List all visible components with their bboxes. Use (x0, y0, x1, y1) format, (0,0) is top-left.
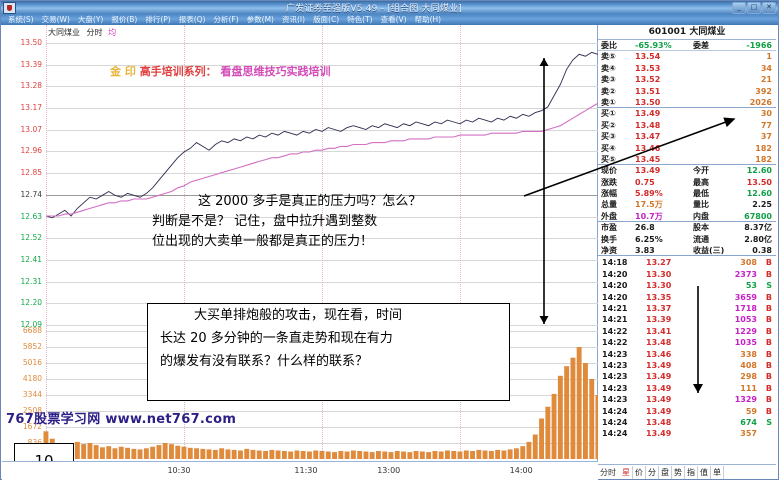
tick-direction-flag: B (760, 337, 776, 348)
ask-label: 卖① (598, 97, 635, 107)
bid-label: 买④ (598, 143, 635, 154)
tick-direction-flag: B (760, 303, 776, 314)
bid-volume: 182 (693, 143, 776, 154)
price-tick-label: 13.28 (2, 82, 42, 90)
chart-ma-label: 均 (108, 28, 116, 37)
price-tick-label: 12.74 (2, 191, 42, 199)
volume-bar (213, 450, 218, 459)
tick-volume: 408 (700, 360, 760, 371)
ask-row[interactable]: 卖①13.502026 (598, 97, 776, 108)
stat-label-right: 今开 (693, 165, 733, 176)
tick-price: 13.46 (646, 349, 700, 360)
volume-bar (269, 450, 274, 459)
tick-price: 13.30 (646, 280, 700, 291)
menu-item-ranking[interactable]: 排行(P) (141, 14, 174, 25)
bid-book[interactable]: 买①13.4930买②13.4877买③13.4737买④13.46182买⑤1… (598, 108, 776, 165)
ask-row[interactable]: 卖④13.5334 (598, 63, 776, 74)
tick-trade-list[interactable]: 14:1813.27308B14:2013.302373B14:2013.305… (598, 257, 776, 439)
volume-bar (295, 451, 300, 460)
volume-bar (276, 451, 281, 460)
menu-item-system[interactable]: 系统(S) (4, 14, 38, 25)
ask-price: 13.52 (635, 74, 693, 85)
volume-bar (433, 451, 438, 459)
tick-direction-flag: S (760, 280, 776, 291)
stat-label-right: 最高 (693, 177, 733, 188)
time-tick-label: 14:00 (510, 466, 533, 475)
stat-label-left: 净资 (598, 245, 635, 255)
bid-row[interactable]: 买②13.4877 (598, 120, 776, 131)
tick-volume: 357 (700, 428, 760, 439)
time-tick-label: 11:30 (294, 466, 317, 475)
ask-row[interactable]: 卖②13.51392 (598, 86, 776, 97)
tick-volume: 53 (700, 280, 760, 291)
tick-direction-flag: B (760, 371, 776, 382)
volume-bar (445, 451, 450, 460)
close-button[interactable]: ✕ (762, 2, 776, 14)
tick-price: 13.39 (646, 314, 700, 325)
price-tick-label: 13.50 (2, 39, 42, 47)
quote-ratio-row: 委比 -65.93% 委差 -1966 (598, 40, 776, 51)
tick-time: 14:23 (598, 349, 646, 360)
tick-row[interactable]: 14:2213.411229B (598, 326, 776, 337)
menu-item-analysis[interactable]: 分析(F) (209, 14, 242, 25)
site-watermark: 767股票学习网 www.net767.com (6, 408, 236, 427)
workspace: 13.5013.3913.2813.1713.0712.9612.8512.74… (2, 25, 777, 479)
volume-bar (426, 452, 431, 459)
volume-bar (552, 394, 557, 459)
volume-bar (407, 452, 412, 459)
stat-value-right: 8.37亿 (733, 222, 776, 233)
volume-tick-label: 6688 (2, 327, 42, 335)
ask-book[interactable]: 卖⑤13.541卖④13.5334卖③13.5221卖②13.51392卖①13… (598, 51, 776, 108)
chart-header: 大同煤业 分时 均 (48, 27, 116, 38)
volume-bar (113, 448, 118, 459)
stat-label-left: 总量 (598, 199, 635, 210)
tick-direction-flag: B (760, 269, 776, 280)
stat-value-left: 17.5万 (635, 199, 693, 210)
stat-value-right: 2.80亿 (733, 234, 776, 245)
tick-direction-flag: B (760, 326, 776, 337)
tick-price: 13.27 (646, 257, 700, 268)
volume-bar (238, 451, 243, 460)
banner-mark-yin: 印 (125, 65, 136, 78)
tick-row[interactable]: 14:2413.4959B (598, 406, 776, 417)
tick-row[interactable]: 14:2113.371718B (598, 303, 776, 314)
ask-price: 13.54 (635, 51, 693, 62)
quote-tab-8[interactable]: 单 (711, 466, 724, 479)
stat-value-left: 26.8 (635, 222, 693, 233)
volume-bar (382, 452, 387, 460)
menu-item-help[interactable]: 帮助(H) (411, 14, 446, 25)
stat-label-right: 流通 (693, 234, 733, 245)
volume-bar (163, 443, 168, 459)
stat-value-left: 3.83 (635, 245, 693, 255)
tick-direction-flag: B (760, 383, 776, 394)
minimize-button[interactable]: _ (732, 2, 746, 14)
price-tick-label: 12.41 (2, 256, 42, 264)
annotation-pressure-line-1: 这 2000 多手是真正的压力吗？怎么？ (152, 192, 537, 212)
volume-bar (589, 379, 594, 459)
tick-time: 14:22 (598, 326, 646, 337)
volume-bar (88, 443, 93, 459)
ask-label: 卖③ (598, 74, 635, 85)
tick-row[interactable]: 14:2313.491329B (598, 394, 776, 405)
banner-mark-jin: 金 (110, 65, 121, 78)
volume-bar (257, 451, 262, 460)
volume-bar (75, 442, 80, 459)
price-tick-label: 12.20 (2, 299, 42, 307)
stat-value-right: 0.38 (733, 245, 776, 255)
annotation-attack: 大买单排炮般的攻击，现在看，时间 长达 20 多分钟的一条直走势和现在有力 的爆… (147, 303, 510, 401)
tick-volume: 338 (700, 349, 760, 360)
tick-price: 13.49 (646, 406, 700, 417)
stat-label-right: 最低 (693, 188, 733, 199)
tick-direction-flag (760, 428, 776, 439)
annotation-attack-line-1: 大买单排炮般的攻击，现在看，时间 (148, 304, 509, 327)
volume-bar (571, 358, 576, 459)
banner-series-label: 高手培训系列： (140, 65, 217, 78)
menu-item-report[interactable]: 报表(Q) (175, 14, 210, 25)
volume-bar (351, 451, 356, 460)
volume-bar (464, 451, 469, 460)
volume-bar (345, 452, 350, 460)
volume-bar (527, 442, 532, 459)
maximize-button[interactable]: □ (747, 2, 761, 14)
volume-bar (401, 452, 406, 460)
chart-mode-label: 分时 (87, 28, 103, 37)
window-title: 广发证券至强版V5.49 - [组合图 大同煤业] (16, 1, 732, 14)
volume-bar (508, 449, 513, 459)
volume-bar (313, 451, 318, 460)
tick-time: 14:23 (598, 360, 646, 371)
volume-bar (188, 448, 193, 459)
tick-price: 13.48 (646, 417, 700, 428)
ask-volume: 392 (693, 86, 776, 97)
volume-bar (326, 452, 331, 460)
quote-tab-2[interactable]: 价 (633, 466, 646, 479)
volume-bar (232, 450, 237, 459)
stat-row: 现价13.49今开12.60 (598, 165, 776, 176)
volume-bar (307, 452, 312, 460)
tick-time: 14:24 (598, 428, 646, 439)
tick-time: 14:23 (598, 383, 646, 394)
ask-label: 卖⑤ (598, 51, 635, 62)
bid-row[interactable]: 买①13.4930 (598, 108, 776, 119)
tick-row[interactable]: 14:2013.3053S (598, 280, 776, 291)
bid-label: 买② (598, 120, 635, 131)
volume-bar (81, 444, 86, 459)
quote-tab-1[interactable]: 星 (620, 466, 633, 479)
menu-item-view[interactable]: 查看(V) (377, 14, 411, 25)
app-window: 广发证券至强版V5.49 - [组合图 大同煤业] _ □ ✕ 系统(S) 交易… (0, 0, 779, 480)
ask-price: 13.51 (635, 86, 693, 97)
tick-volume: 59 (700, 406, 760, 417)
volume-tick-label: 5016 (2, 359, 42, 367)
tick-volume: 298 (700, 371, 760, 382)
volume-bar (533, 435, 538, 460)
volume-bar (251, 450, 256, 459)
diff-value: -1966 (733, 40, 776, 50)
tick-direction-flag: B (760, 394, 776, 405)
tick-row[interactable]: 14:2113.391053B (598, 314, 776, 325)
volume-bar (219, 448, 224, 459)
tick-volume: 1035 (700, 337, 760, 348)
stat-value-left: 13.49 (635, 165, 693, 176)
stat-label-left: 换手 (598, 234, 635, 245)
tick-volume: 308 (700, 257, 760, 268)
ask-volume: 2026 (693, 97, 776, 107)
menu-item-market[interactable]: 大盘(Y) (74, 14, 107, 25)
stat-label-right: 内盘 (693, 211, 733, 221)
tick-time: 14:23 (598, 371, 646, 382)
annotation-attack-line-2: 长达 20 多分钟的一条直走势和现在有力 (148, 327, 509, 350)
ask-volume: 21 (693, 74, 776, 85)
tick-time: 14:21 (598, 303, 646, 314)
volume-bar (395, 451, 400, 459)
training-banner: 金 印 高手培训系列： 看盘思维技巧实践培训 (110, 63, 331, 79)
volume-tick-label: 3344 (2, 391, 42, 399)
tick-direction-flag: B (760, 406, 776, 417)
window-controls: _ □ ✕ (732, 2, 776, 14)
tick-row[interactable]: 14:2013.353659B (598, 292, 776, 303)
volume-bar (514, 448, 519, 459)
volume-bar (357, 451, 362, 459)
quote-name: 大同煤业 (689, 27, 725, 37)
bid-price: 13.48 (635, 120, 693, 131)
volume-bar (338, 451, 343, 459)
volume-bar (483, 451, 488, 460)
menu-item-params[interactable]: 参数(M) (243, 14, 278, 25)
stat-label-left: 涨跌 (598, 177, 635, 188)
ask-row[interactable]: 卖③13.5221 (598, 74, 776, 85)
tick-direction-flag: S (760, 417, 776, 428)
tick-row[interactable]: 14:2413.49357 (598, 428, 776, 439)
bid-volume: 37 (693, 131, 776, 142)
tick-row[interactable]: 14:2213.481035B (598, 337, 776, 348)
volume-bar (389, 452, 394, 459)
stat-value-right: 12.60 (733, 165, 776, 176)
stat-label-right: 量比 (693, 199, 733, 210)
volume-bar (439, 452, 444, 460)
volume-bar (150, 447, 155, 459)
tick-time: 14:18 (598, 257, 646, 268)
volume-bar (263, 451, 268, 459)
intraday-chart-panel[interactable]: 13.5013.3913.2813.1713.0712.9612.8512.74… (2, 25, 598, 479)
time-tick-label: 13:00 (377, 466, 400, 475)
volume-bar (138, 449, 143, 459)
bid-price: 13.45 (635, 154, 693, 164)
volume-bar (244, 449, 249, 459)
quote-tab-bar[interactable]: 分时星价分盘势指值单 (598, 464, 776, 479)
volume-bar (370, 452, 375, 459)
volume-bar (144, 448, 149, 459)
stat-label-left: 涨幅 (598, 188, 635, 199)
tick-price: 13.48 (646, 337, 700, 348)
ratio-value: -65.93% (635, 40, 693, 50)
volume-bar (564, 366, 569, 459)
tick-volume: 674 (700, 417, 760, 428)
volume-bar (577, 347, 582, 459)
volume-bar (175, 446, 180, 459)
bid-row[interactable]: 买③13.4737 (598, 131, 776, 142)
volume-bar (332, 452, 337, 459)
volume-bar (489, 451, 494, 459)
stat-row: 市盈26.8股本8.37亿 (598, 222, 776, 233)
volume-bar (194, 448, 199, 459)
tick-time: 14:24 (598, 406, 646, 417)
quote-tab-0[interactable]: 分时 (598, 466, 620, 479)
stat-row: 涨跌0.75最高13.50 (598, 177, 776, 188)
ask-price: 13.53 (635, 63, 693, 74)
tick-price: 13.30 (646, 269, 700, 280)
tick-time: 14:24 (598, 417, 646, 428)
bid-volume: 182 (693, 154, 776, 164)
quote-tab-4[interactable]: 盘 (659, 466, 672, 479)
volume-bar (539, 419, 544, 460)
bid-row[interactable]: 买⑤13.45182 (598, 154, 776, 165)
quote-tab-5[interactable]: 势 (672, 466, 685, 479)
stat-label-right: 股本 (693, 222, 733, 233)
annotation-pressure: 这 2000 多手是真正的压力吗？怎么？ 判断是不是？ 记住，盘中拉升遇到整数 … (152, 192, 537, 254)
menu-bar: 系统(S) 交易(W) 大盘(Y) 报价(B) 排行(P) 报表(Q) 分析(F… (1, 14, 778, 25)
app-icon (3, 2, 16, 14)
tick-volume: 1229 (700, 326, 760, 337)
annotation-pressure-line-2: 判断是不是？ 记住，盘中拉升遇到整数 (152, 212, 537, 232)
ask-volume: 34 (693, 63, 776, 74)
tick-price: 13.49 (646, 394, 700, 405)
volume-bar (451, 451, 456, 459)
stat-row: 换手6.25%流通2.80亿 (598, 234, 776, 245)
tick-direction-flag: B (760, 360, 776, 371)
menu-item-trade[interactable]: 交易(W) (38, 14, 74, 25)
tick-row[interactable]: 14:2313.49111B (598, 383, 776, 394)
tick-time: 14:23 (598, 394, 646, 405)
volume-bar (200, 449, 205, 459)
tick-price: 13.41 (646, 326, 700, 337)
tick-direction-flag: B (760, 314, 776, 325)
ask-label: 卖② (598, 86, 635, 97)
menu-item-layout[interactable]: 版面(C) (309, 14, 343, 25)
tick-direction-flag: B (760, 349, 776, 360)
chart-stock-name: 大同煤业 (48, 28, 80, 37)
tick-row[interactable]: 14:2313.46338B (598, 349, 776, 360)
volume-bar (320, 451, 325, 459)
price-tick-label: 13.07 (2, 126, 42, 134)
tick-direction-flag: B (760, 292, 776, 303)
bid-label: 买① (598, 108, 635, 119)
volume-bar (414, 451, 419, 459)
stat-value-left: 10.7万 (635, 211, 693, 221)
volume-bar (301, 451, 306, 459)
quote-statistics: 现价13.49今开12.60涨跌0.75最高13.50涨幅5.89%最低12.6… (598, 165, 776, 256)
banner-topic-label: 看盘思维技巧实践培训 (221, 65, 331, 78)
volume-bar (502, 451, 507, 460)
stat-row: 总量17.5万量比2.25 (598, 199, 776, 210)
tick-volume: 1053 (700, 314, 760, 325)
volume-bar (119, 447, 124, 459)
volume-bar (558, 376, 563, 459)
bid-price: 13.49 (635, 108, 693, 119)
tick-price: 13.35 (646, 292, 700, 303)
volume-bar (207, 449, 212, 459)
bid-row[interactable]: 买④13.46182 (598, 143, 776, 154)
menu-item-news[interactable]: 资讯(I) (278, 14, 309, 25)
tick-row[interactable]: 14:2313.49298B (598, 371, 776, 382)
tick-volume: 2373 (700, 269, 760, 280)
volume-bar (282, 451, 287, 459)
bid-volume: 77 (693, 120, 776, 131)
title-bar: 广发证券至强版V5.49 - [组合图 大同煤业] _ □ ✕ (1, 1, 778, 14)
ask-row[interactable]: 卖⑤13.541 (598, 51, 776, 62)
volume-bar (106, 446, 111, 459)
stat-label-right: 收益(三) (693, 245, 733, 255)
bid-label: 买⑤ (598, 154, 635, 164)
stat-label-left: 外盘 (598, 211, 635, 221)
stat-value-left: 5.89% (635, 188, 693, 199)
volume-tick-label: 4180 (2, 375, 42, 383)
volume-bar (476, 450, 481, 459)
menu-item-quote[interactable]: 报价(B) (107, 14, 141, 25)
volume-tick-label: 5852 (2, 343, 42, 351)
volume-bar (100, 447, 105, 459)
quote-tab-7[interactable]: 值 (698, 466, 711, 479)
tick-price: 13.49 (646, 371, 700, 382)
ratio-label: 委比 (598, 40, 635, 50)
price-tick-label: 12.85 (2, 169, 42, 177)
quote-code: 601001 (649, 27, 687, 37)
ask-price: 13.50 (635, 97, 693, 107)
ask-label: 卖④ (598, 63, 635, 74)
volume-bar (125, 448, 130, 459)
volume-bar (495, 450, 500, 459)
tick-time: 14:20 (598, 269, 646, 280)
tick-volume: 3659 (700, 292, 760, 303)
tick-row[interactable]: 14:1813.27308B (598, 257, 776, 268)
quote-tab-6[interactable]: 指 (685, 466, 698, 479)
stat-value-left: 0.75 (635, 177, 693, 188)
volume-bar (583, 363, 588, 459)
stat-row: 涨幅5.89%最低12.60 (598, 188, 776, 199)
volume-bar (226, 449, 231, 459)
tick-row[interactable]: 14:2413.48674S (598, 417, 776, 428)
tick-row[interactable]: 14:2013.302373B (598, 269, 776, 280)
annotation-pressure-line-3: 位出现的大卖单一般都是真正的压力！ (152, 232, 537, 252)
stat-value-right: 13.50 (733, 177, 776, 188)
bid-volume: 30 (693, 108, 776, 119)
tick-price: 13.49 (646, 383, 700, 394)
menu-item-feature[interactable]: 特色(T) (343, 14, 376, 25)
tick-volume: 111 (700, 383, 760, 394)
tick-price: 13.37 (646, 303, 700, 314)
time-axis: 10:3011:3013:0014:00 (2, 461, 598, 480)
stat-value-right: 12.60 (733, 188, 776, 199)
volume-bar (520, 446, 525, 459)
stat-row: 外盘10.7万内盘67800 (598, 211, 776, 222)
tick-price: 13.49 (646, 360, 700, 371)
quote-panel[interactable]: 601001 大同煤业 委比 -65.93% 委差 -1966 卖⑤13.541… (598, 25, 776, 479)
volume-bar (157, 445, 162, 459)
tick-row[interactable]: 14:2313.49408B (598, 360, 776, 371)
tick-time: 14:20 (598, 280, 646, 291)
tick-direction-flag: B (760, 257, 776, 268)
bid-price: 13.47 (635, 131, 693, 142)
quote-tab-3[interactable]: 分 (646, 466, 659, 479)
stat-label-left: 现价 (598, 165, 635, 176)
tick-time: 14:22 (598, 337, 646, 348)
price-tick-label: 13.39 (2, 61, 42, 69)
stat-value-right: 67800 (733, 211, 776, 221)
tick-time: 14:20 (598, 292, 646, 303)
